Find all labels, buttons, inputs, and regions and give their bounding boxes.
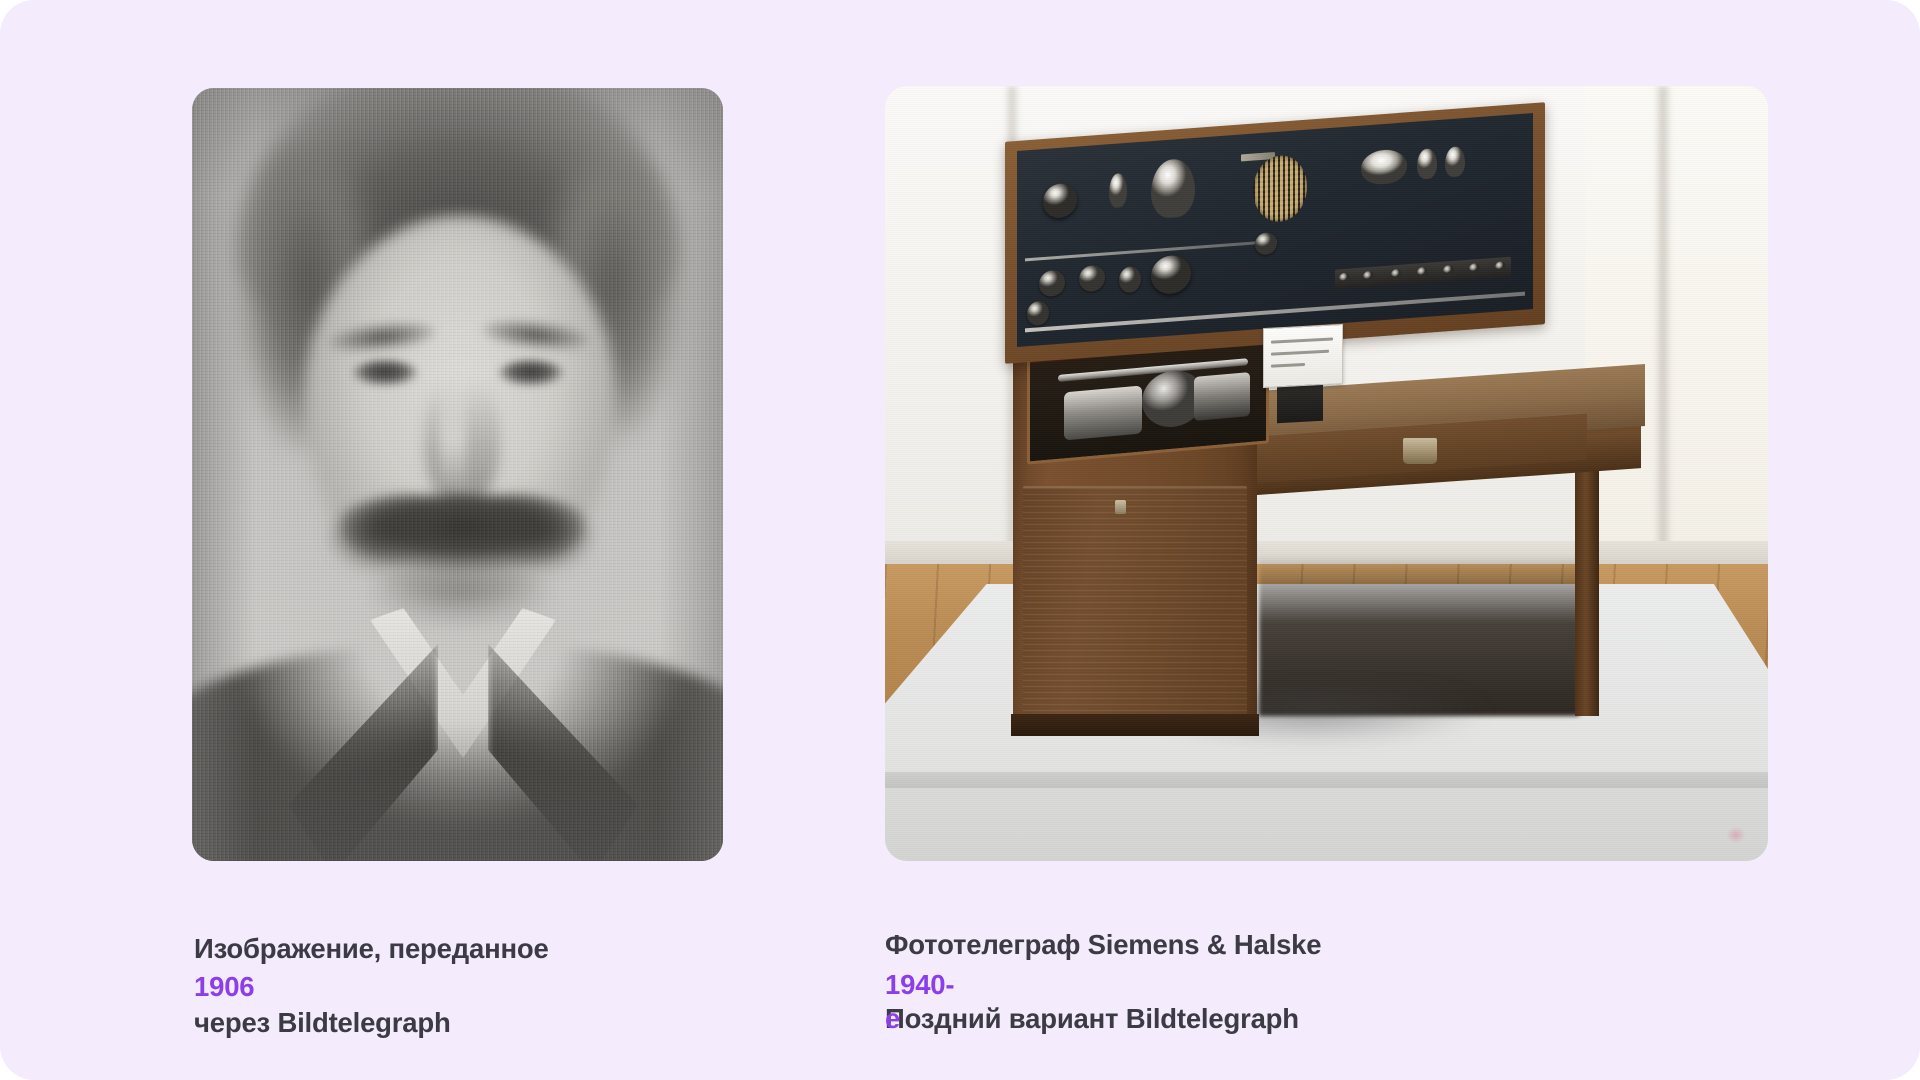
portrait-illustration <box>192 88 723 861</box>
apparatus-year: 1940-е <box>885 968 954 1036</box>
portrait-scanlines <box>192 88 723 861</box>
photo-texture-overlay <box>885 86 1768 861</box>
portrait-year: 1906 <box>194 970 254 1004</box>
apparatus-caption-line-1: Фототелеграф Siemens & Halske <box>885 929 1321 960</box>
portrait-photo[interactable] <box>192 88 723 861</box>
portrait-caption: Изображение, переданное через Bildtelegr… <box>194 893 754 1041</box>
portrait-caption-line-2: через Bildtelegraph <box>194 1007 451 1038</box>
apparatus-caption: Фототелеграф Siemens & Halske Поздний ва… <box>885 889 1525 1037</box>
figure-grid: Изображение, переданное через Bildtelegr… <box>0 0 1920 1080</box>
apparatus-photo[interactable] <box>885 86 1768 861</box>
apparatus-illustration <box>885 86 1768 861</box>
page-card: Изображение, переданное через Bildtelegr… <box>0 0 1920 1080</box>
portrait-caption-line-1: Изображение, переданное <box>194 933 549 964</box>
